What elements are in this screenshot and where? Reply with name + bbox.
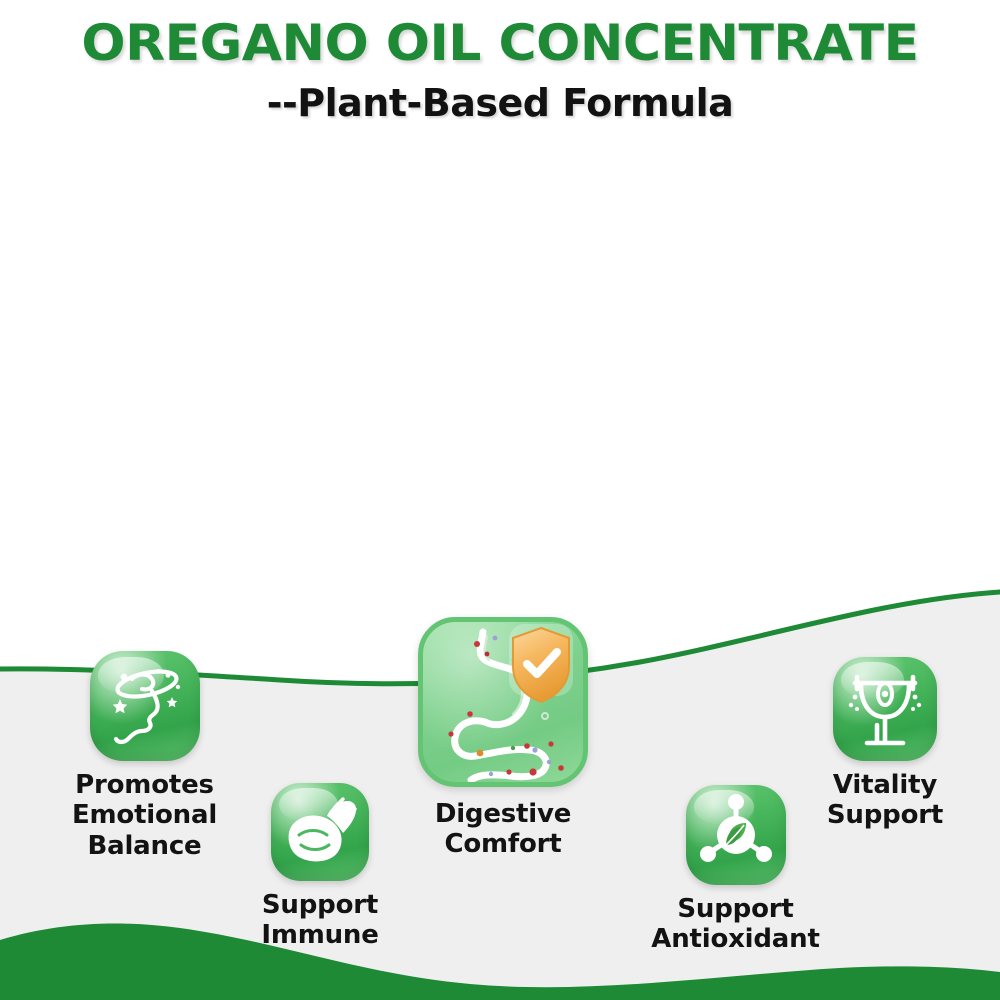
feature-digestive-comfort[interactable]: Digestive Comfort [418,617,588,860]
page-subtitle: --Plant-Based Formula [0,81,1000,125]
feature-label: Vitality Support [785,770,985,831]
feature-vitality-support[interactable]: Vitality Support [785,657,985,831]
header: OREGANO OIL CONCENTRATE --Plant-Based Fo… [0,18,1000,125]
molecule-leaf-icon [686,785,786,885]
flexed-bicep-icon [271,783,369,881]
feature-support-immune[interactable]: Support Immune [205,783,435,951]
feature-label: Support Antioxidant [603,894,868,955]
digestive-tract-shield-icon [418,617,588,787]
feature-label: Support Immune [205,890,435,951]
feature-label: Digestive Comfort [418,799,588,860]
page-title: OREGANO OIL CONCENTRATE [0,18,1000,69]
face-dizzy-icon [90,651,200,761]
trophy-icon [833,657,937,761]
product-infographic: OREGANO OIL CONCENTRATE --Plant-Based Fo… [0,0,1000,1000]
